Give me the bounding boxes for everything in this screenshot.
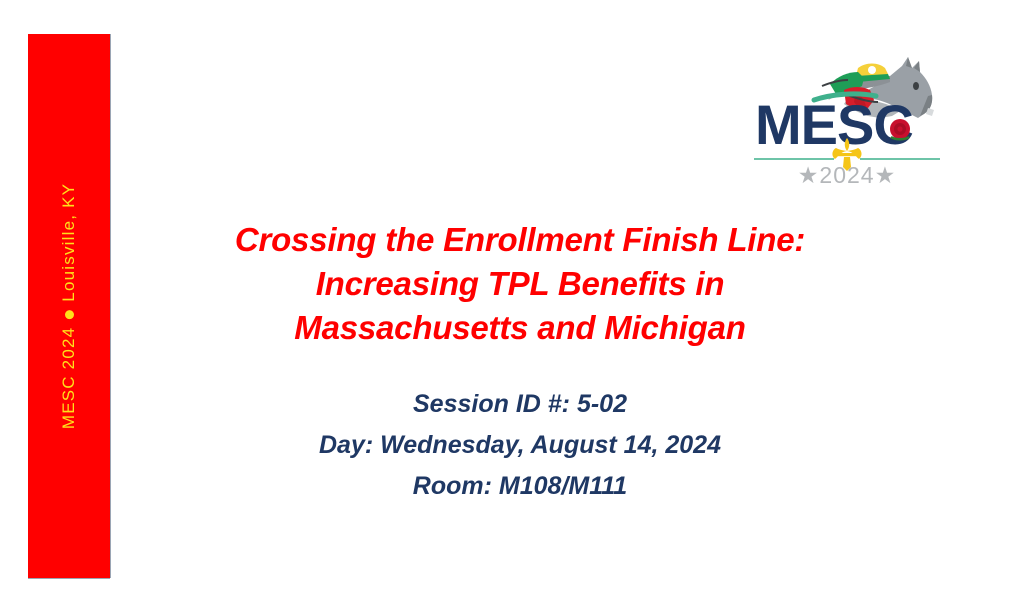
page-title: Crossing the Enrollment Finish Line: Inc… — [140, 218, 900, 350]
side-band-text: MESC 2024 Louisville, KY — [59, 183, 79, 429]
title-line-2: Increasing TPL Benefits in — [140, 262, 900, 306]
session-id-line: Session ID #: 5-02 — [140, 384, 900, 425]
logo-wordmark: MESC — [755, 93, 913, 156]
presentation-title-slide: MESC 2024 Louisville, KY — [0, 0, 1024, 613]
side-band: MESC 2024 Louisville, KY — [28, 34, 110, 578]
title-line-1: Crossing the Enrollment Finish Line: — [140, 218, 900, 262]
session-room-line: Room: M108/M111 — [140, 466, 900, 507]
session-day-line: Day: Wednesday, August 14, 2024 — [140, 425, 900, 466]
mesc-conference-logo: MESC ★2024★ — [752, 52, 942, 188]
logo-year: ★2024★ — [798, 162, 896, 188]
side-band-text-before: MESC 2024 — [59, 327, 79, 429]
side-band-text-after: Louisville, KY — [59, 183, 79, 302]
bullet-separator-icon — [65, 310, 74, 319]
session-details: Session ID #: 5-02 Day: Wednesday, Augus… — [140, 384, 900, 507]
mesc-logo-artwork: MESC ★2024★ — [752, 52, 942, 188]
title-line-3: Massachusetts and Michigan — [140, 306, 900, 350]
